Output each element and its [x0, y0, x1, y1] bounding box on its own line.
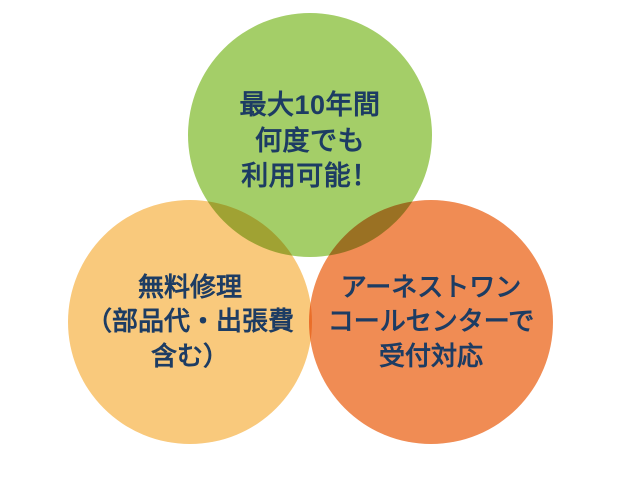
venn-caption-orange: アーネストワン コールセンターで 受付対応 [305, 270, 557, 373]
venn-caption-orange-line-2: コールセンターで [305, 304, 557, 338]
venn-caption-green: 最大10年間 何度でも 利用可能！ [170, 88, 450, 195]
venn-circles-layer [0, 0, 620, 495]
venn-caption-green-line-2: 何度でも [170, 124, 450, 160]
venn-caption-amber: 無料修理 （部品代・出張費 含む） [56, 270, 324, 373]
venn-diagram-graphic: 1 2 3 最大10年間 何度でも 利用可能！ 無料修理 （部品代・出張費 含む… [0, 0, 620, 495]
venn-caption-amber-line-3: 含む） [56, 339, 324, 373]
venn-caption-green-line-3: 利用可能！ [170, 159, 450, 195]
venn-caption-orange-line-3: 受付対応 [305, 339, 557, 373]
venn-caption-amber-line-2: （部品代・出張費 [56, 304, 324, 338]
venn-caption-amber-line-1: 無料修理 [56, 270, 324, 304]
venn-caption-orange-line-1: アーネストワン [305, 270, 557, 304]
venn-caption-green-line-1: 最大10年間 [170, 88, 450, 124]
